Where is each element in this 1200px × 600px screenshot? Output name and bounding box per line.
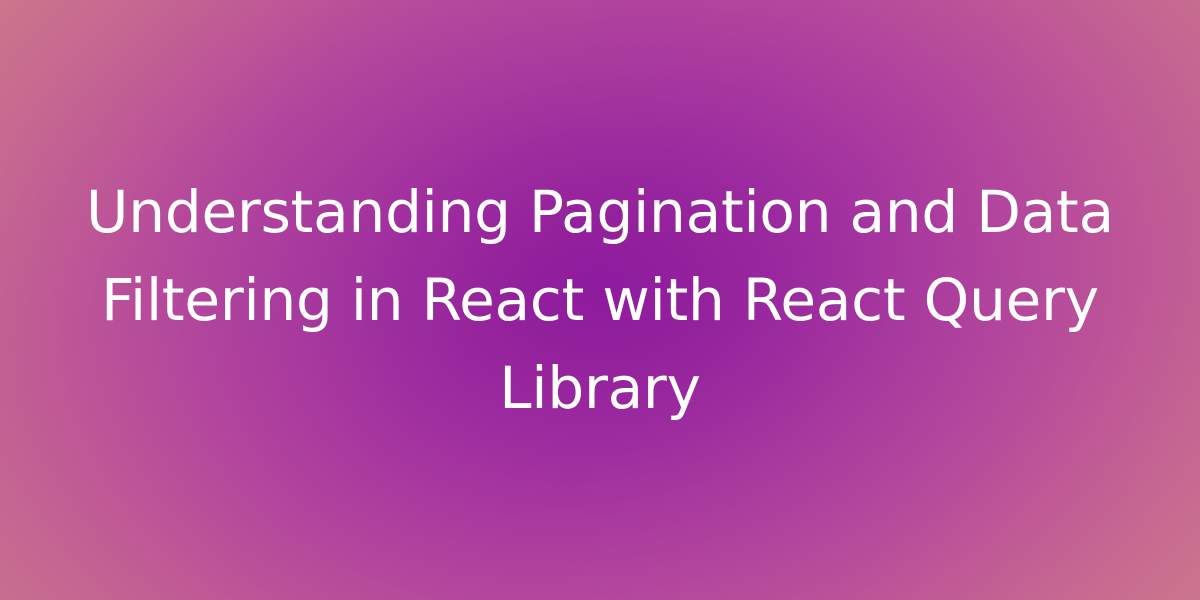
cover-content: Understanding Pagination and Data Filter…	[0, 0, 1200, 600]
cover-title: Understanding Pagination and Data Filter…	[48, 168, 1152, 432]
cover-card: Understanding Pagination and Data Filter…	[0, 0, 1200, 600]
